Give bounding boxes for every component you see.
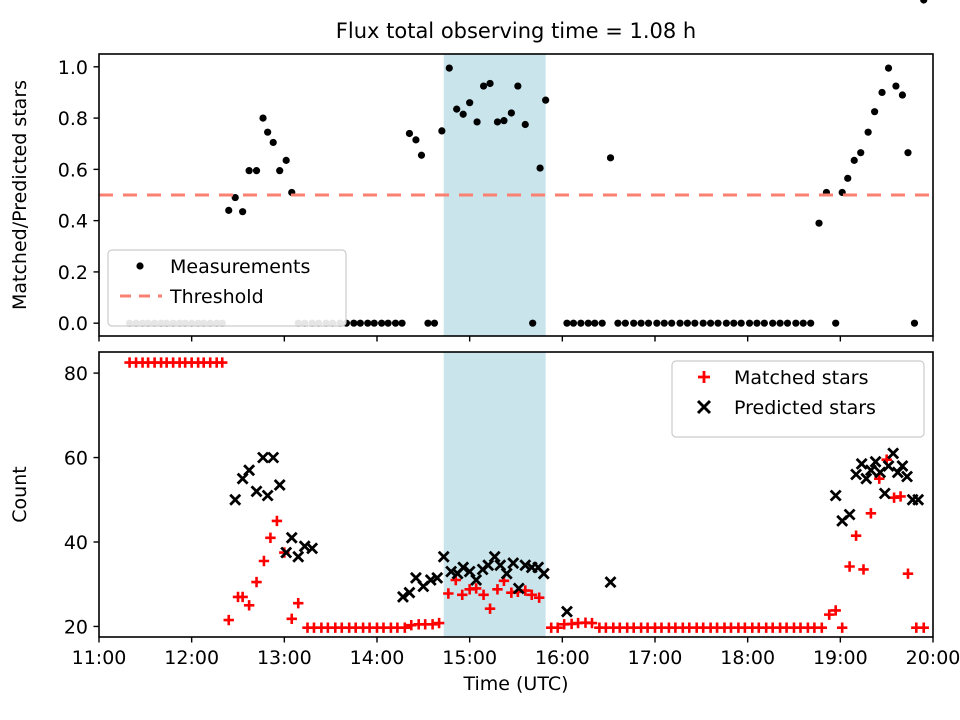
data-point [899, 91, 906, 98]
data-point [536, 164, 543, 171]
data-point [792, 320, 799, 327]
figure-title: Flux total observing time = 1.08 h [336, 19, 696, 43]
data-point [844, 175, 851, 182]
data-point [700, 320, 707, 327]
data-point [746, 320, 753, 327]
data-point [460, 111, 467, 118]
data-point [424, 320, 431, 327]
data-point [283, 157, 290, 164]
x-tick-label: 11:00 [72, 647, 127, 669]
data-point [253, 167, 260, 174]
data-point [500, 117, 507, 124]
data-point [473, 118, 480, 125]
data-point [638, 320, 645, 327]
x-tick-label: 19:00 [813, 647, 868, 669]
data-point [653, 320, 660, 327]
data-point [542, 97, 549, 104]
x-tick-label: 15:00 [442, 647, 497, 669]
data-point [800, 320, 807, 327]
data-point [738, 320, 745, 327]
data-point [392, 320, 399, 327]
data-point [885, 65, 892, 72]
y-tick-label: 0.6 [58, 159, 88, 181]
data-point [398, 320, 405, 327]
data-point [585, 320, 592, 327]
data-point [630, 320, 637, 327]
y-tick-label: 60 [64, 448, 88, 470]
x-tick-label: 20:00 [906, 647, 960, 669]
data-point [563, 320, 570, 327]
x-tick-label: 14:00 [350, 647, 405, 669]
data-point [239, 208, 246, 215]
legend-label: Matched stars [734, 367, 868, 389]
data-point [385, 320, 392, 327]
data-point [777, 320, 784, 327]
legend-top: MeasurementsThreshold [108, 250, 346, 326]
legend-label: Threshold [169, 286, 264, 308]
data-point [607, 154, 614, 161]
y-axis-label: Count [9, 466, 31, 522]
data-point [270, 139, 277, 146]
data-point [807, 320, 814, 327]
data-point [730, 320, 737, 327]
data-point [225, 207, 232, 214]
data-point [691, 320, 698, 327]
data-point [622, 320, 629, 327]
x-tick-label: 13:00 [257, 647, 312, 669]
data-point [418, 152, 425, 159]
x-tick-label: 17:00 [628, 647, 683, 669]
legend-bottom: Matched starsPredicted stars [672, 361, 924, 437]
data-point [438, 127, 445, 134]
data-point [769, 320, 776, 327]
data-point [753, 320, 760, 327]
data-point [378, 320, 385, 327]
data-point [892, 82, 899, 89]
data-point [406, 130, 413, 137]
data-point [857, 149, 864, 156]
y-tick-label: 1.0 [58, 57, 88, 79]
figure-canvas: Flux total observing time = 1.08 h 0.00.… [0, 0, 960, 720]
data-point [412, 136, 419, 143]
y-tick-label: 0.0 [58, 313, 88, 335]
matplotlib-figure: Flux total observing time = 1.08 h 0.00.… [0, 0, 960, 720]
y-axis-label: Matched/Predicted stars [9, 80, 31, 310]
data-point [364, 320, 371, 327]
data-point [264, 129, 271, 136]
data-point [446, 65, 453, 72]
data-point [522, 121, 529, 128]
data-point [259, 114, 266, 121]
data-point [453, 106, 460, 113]
data-point [246, 167, 253, 174]
data-point [570, 320, 577, 327]
data-point [871, 108, 878, 115]
y-tick-label: 0.8 [58, 108, 88, 130]
legend-label: Measurements [170, 256, 310, 278]
y-tick-label: 0.4 [58, 211, 88, 233]
data-point [599, 320, 606, 327]
y-tick-label: 0.2 [58, 262, 88, 284]
y-tick-label: 80 [64, 363, 88, 385]
y-tick-label: 40 [64, 532, 88, 554]
data-point [529, 320, 536, 327]
data-point [508, 109, 515, 116]
data-point [911, 320, 918, 327]
data-point [832, 320, 839, 327]
data-point [350, 320, 357, 327]
y-tick-label: 20 [64, 616, 88, 638]
x-tick-label: 12:00 [164, 647, 219, 669]
data-point [591, 320, 598, 327]
data-point [815, 220, 822, 227]
data-point [723, 320, 730, 327]
data-point [684, 320, 691, 327]
data-point [480, 82, 487, 89]
data-point [645, 320, 652, 327]
data-point [707, 320, 714, 327]
data-point [466, 99, 473, 106]
data-point [661, 320, 668, 327]
data-point [431, 320, 438, 327]
data-point [494, 118, 501, 125]
data-point [878, 89, 885, 96]
data-point [784, 320, 791, 327]
data-point [676, 320, 683, 327]
legend-label: Predicted stars [734, 397, 876, 419]
data-point [357, 320, 364, 327]
x-axis-label: Time (UTC) [462, 673, 568, 695]
data-point [276, 167, 283, 174]
data-point [904, 149, 911, 156]
x-tick-label: 16:00 [535, 647, 590, 669]
x-tick-label: 18:00 [720, 647, 775, 669]
data-point [761, 320, 768, 327]
data-point [714, 320, 721, 327]
data-point [668, 320, 675, 327]
data-point [577, 320, 584, 327]
data-point [865, 129, 872, 136]
data-point [371, 320, 378, 327]
data-point [851, 157, 858, 164]
data-point [486, 80, 493, 87]
data-point [614, 320, 621, 327]
data-point [514, 82, 521, 89]
legend-swatch-measurements [136, 262, 143, 269]
